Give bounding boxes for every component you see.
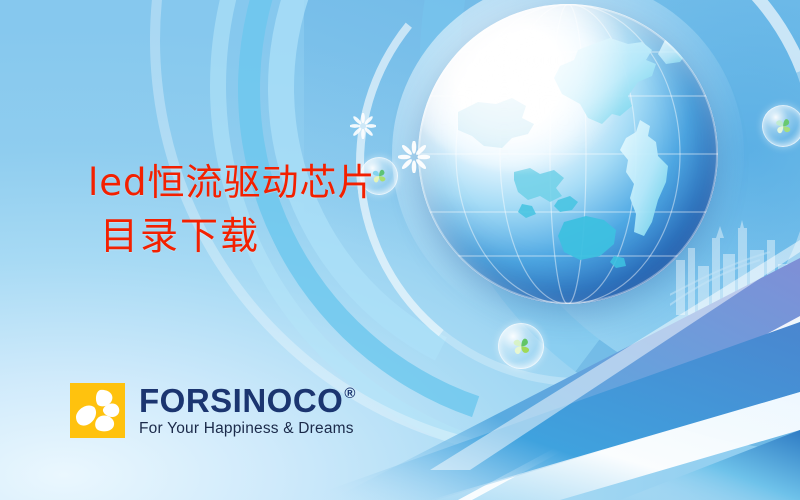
headline-line-1: led恒流驱动芯片 — [88, 160, 508, 205]
pinwheel-icon — [509, 334, 534, 359]
headline-line-2: 目录下载 — [88, 213, 508, 259]
four-petal-flower-icon — [70, 383, 125, 438]
logo-name-text: FORSINOCO — [139, 384, 343, 417]
headline-text: led恒流驱动芯片 目录下载 — [88, 160, 508, 259]
logo-tagline: For Your Happiness & Dreams — [139, 420, 356, 438]
brand-logo: FORSINOCO® For Your Happiness & Dreams — [70, 383, 356, 438]
bubble-pinwheel-icon — [762, 105, 800, 147]
bubble-pinwheel-icon — [498, 323, 544, 369]
registered-mark: ® — [344, 386, 356, 401]
poster-canvas: led恒流驱动芯片 目录下载 FORSINOCO® For Your Happi… — [0, 0, 800, 500]
logo-name: FORSINOCO® — [139, 384, 356, 417]
pinwheel-icon — [772, 115, 794, 137]
logo-mark — [70, 383, 125, 438]
logo-wordmark: FORSINOCO® For Your Happiness & Dreams — [139, 384, 356, 438]
sparkle-flower-icon — [350, 113, 376, 139]
